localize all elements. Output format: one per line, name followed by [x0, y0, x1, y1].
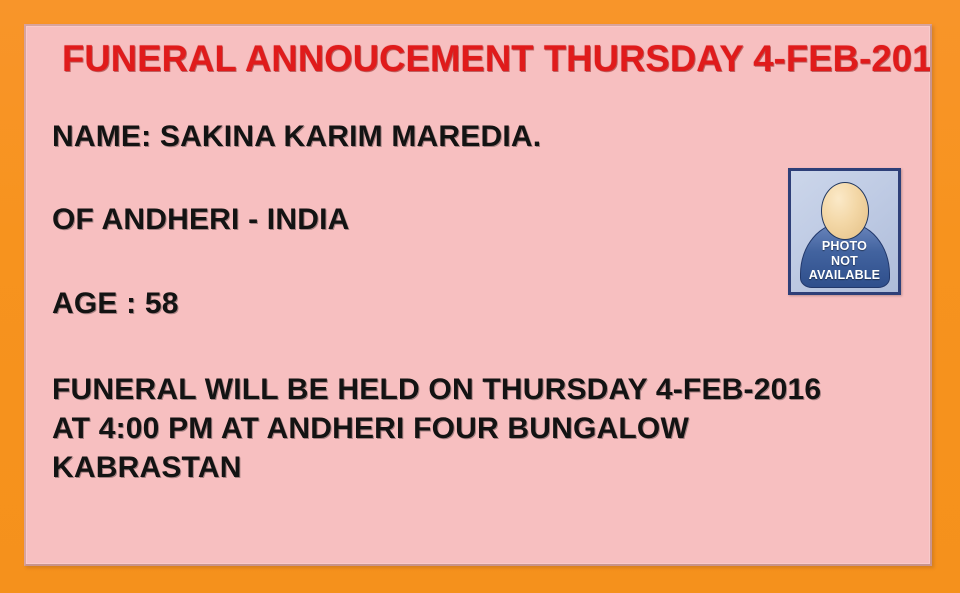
deceased-age-line: AGE : 58	[52, 289, 179, 319]
funeral-details-line: AT 4:00 PM AT ANDHERI FOUR BUNGALOW	[52, 414, 821, 444]
deceased-name-line: NAME: SAKINA KARIM MAREDIA.	[52, 122, 541, 152]
deceased-locality-line: OF ANDHERI - INDIA	[52, 205, 349, 235]
funeral-details-block: FUNERAL WILL BE HELD ON THURSDAY 4-FEB-2…	[52, 375, 821, 492]
notice-outer-frame: FUNERAL ANNOUCEMENT THURSDAY 4-FEB-2016 …	[0, 0, 960, 593]
photo-caption-line-1: PHOTO	[791, 239, 898, 254]
photo-placeholder-canvas: PHOTO NOT AVAILABLE	[791, 171, 898, 292]
funeral-details-line: KABRASTAN	[52, 453, 821, 483]
avatar-silhouette-head-icon	[821, 182, 869, 240]
photo-not-available-placeholder: PHOTO NOT AVAILABLE	[788, 168, 901, 295]
photo-placeholder-caption: PHOTO NOT AVAILABLE	[791, 239, 898, 283]
notice-headline: FUNERAL ANNOUCEMENT THURSDAY 4-FEB-2016	[62, 38, 887, 81]
funeral-details-line: FUNERAL WILL BE HELD ON THURSDAY 4-FEB-2…	[52, 375, 821, 405]
photo-caption-line-3: AVAILABLE	[791, 268, 898, 283]
photo-caption-line-2: NOT	[791, 254, 898, 269]
notice-card: FUNERAL ANNOUCEMENT THURSDAY 4-FEB-2016 …	[24, 24, 932, 566]
